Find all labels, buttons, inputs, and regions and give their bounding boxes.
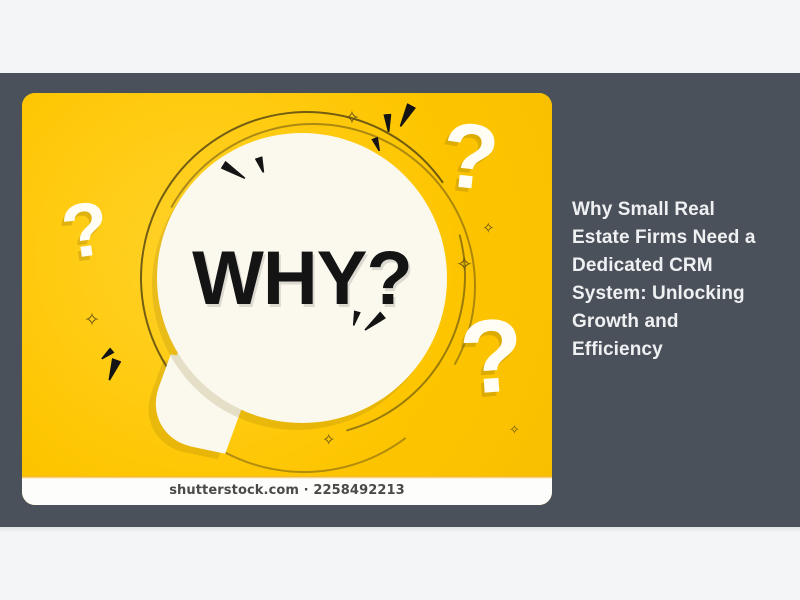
watermark-text: shutterstock.com · 2258492213 [169, 483, 405, 498]
question-mark-icon: ? [437, 108, 503, 205]
page-root: WHY? ? ? ? ✧ ✧ ✧ ✧ ✧ ✧ shutterstock.c [0, 0, 800, 600]
question-mark-icon: ? [57, 190, 114, 272]
sparkle-star-icon: ✧ [84, 311, 100, 330]
page-lower-area [0, 527, 800, 600]
featured-image-card[interactable]: WHY? ? ? ? ✧ ✧ ✧ ✧ ✧ ✧ shutterstock.c [22, 93, 552, 505]
sparkle-star-icon: ✧ [322, 433, 335, 449]
speech-bubble-text: WHY? [157, 133, 447, 423]
featured-image-artwork: WHY? ? ? ? ✧ ✧ ✧ ✧ ✧ ✧ [22, 93, 552, 476]
article-title: Why Small Real Estate Firms Need a Dedic… [572, 196, 760, 364]
sparkle-star-icon: ✧ [344, 109, 360, 128]
spark-mark-icon [396, 103, 416, 129]
image-watermark-bar: shutterstock.com · 2258492213 [22, 476, 552, 505]
sparkle-star-icon: ✧ [509, 423, 520, 436]
spark-mark-icon [105, 358, 122, 382]
sparkle-star-icon: ✧ [456, 255, 473, 275]
sparkle-star-icon: ✧ [482, 221, 495, 236]
question-mark-icon: ? [456, 303, 527, 411]
